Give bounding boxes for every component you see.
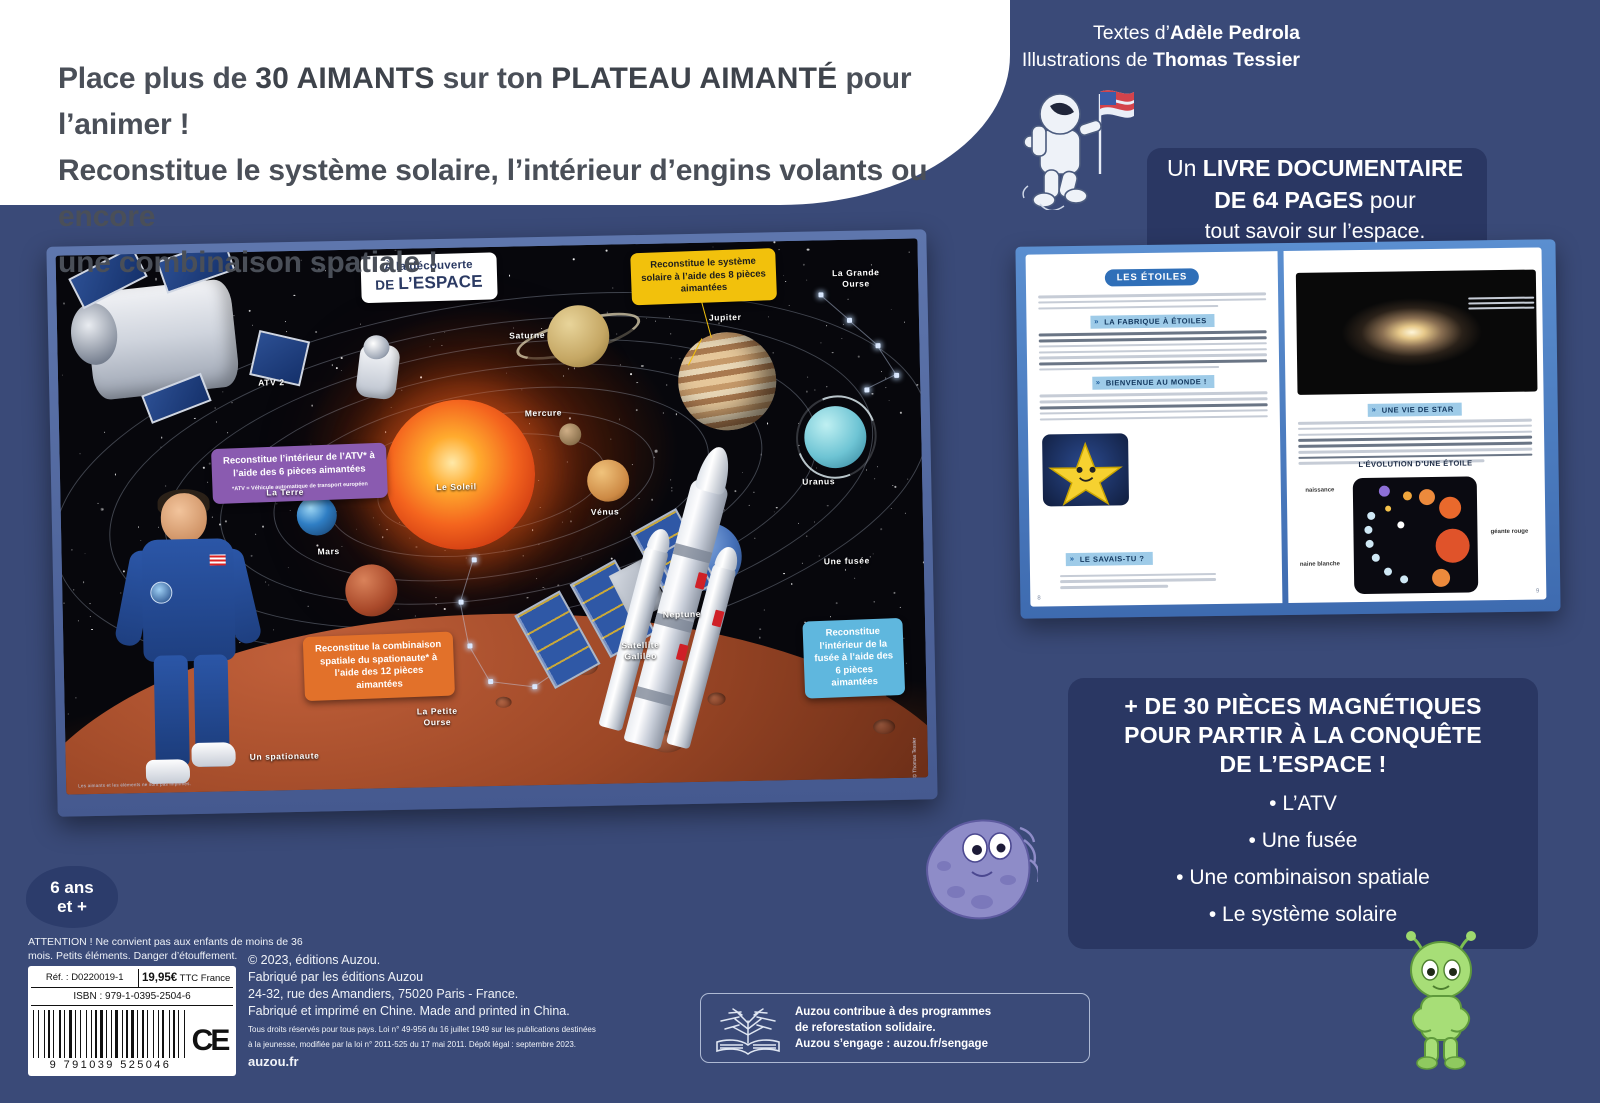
publisher-line-4: Fabriqué et imprimé en Chine. Made and p… bbox=[248, 1003, 668, 1020]
text-line bbox=[1040, 415, 1268, 421]
star-speck bbox=[286, 331, 287, 332]
star-speck bbox=[248, 310, 250, 312]
list-item: • Le système solaire bbox=[1078, 896, 1528, 933]
barcode-bar bbox=[62, 1010, 63, 1058]
barcode-bars bbox=[33, 1010, 188, 1058]
barcode-bar bbox=[153, 1010, 154, 1058]
barcode-bar bbox=[142, 1010, 144, 1058]
magnet-pieces-panel: + DE 30 PIÈCES MAGNÉTIQUES POUR PARTIR À… bbox=[1068, 678, 1538, 949]
barcode-bar bbox=[35, 1010, 37, 1058]
publisher-website[interactable]: auzou.fr bbox=[248, 1054, 668, 1069]
legal-line-1: Tous droits réservés pour tous pays. Loi… bbox=[248, 1024, 668, 1035]
barcode-bar bbox=[173, 1010, 175, 1058]
barcode-bar bbox=[126, 1010, 128, 1058]
callout-atv-text: Reconstitue l’intérieur de l’ATV* à l’ai… bbox=[223, 450, 375, 479]
crater bbox=[495, 696, 511, 707]
text-line bbox=[1039, 359, 1267, 365]
barcode-bar bbox=[111, 1010, 112, 1058]
headline-l1-b: 30 AIMANTS bbox=[255, 62, 434, 95]
evo-star-dot bbox=[1403, 491, 1412, 500]
page-section-heading: UNE VIE DE STAR bbox=[1368, 403, 1462, 417]
reforestation-line-3: Auzou s’engage : auzou.fr/sengage bbox=[795, 1036, 991, 1052]
evo-star-dot bbox=[1435, 528, 1469, 562]
reforestation-line-1: Auzou contribue à des programmes bbox=[795, 1004, 991, 1020]
label-petite-ourse: La Petite Ourse bbox=[417, 706, 458, 729]
page-section-heading: LE SAVAIS-TU ? bbox=[1066, 552, 1153, 566]
barcode-bar bbox=[178, 1010, 179, 1058]
barcode-bar bbox=[122, 1010, 123, 1058]
barcode-bar bbox=[64, 1010, 65, 1058]
text-line bbox=[1038, 305, 1218, 310]
label-terre: La Terre bbox=[266, 487, 304, 499]
star-speck bbox=[63, 303, 65, 305]
text-line bbox=[1060, 585, 1168, 589]
text-line bbox=[1468, 296, 1534, 300]
star-speck bbox=[830, 616, 832, 618]
label-mercure: Mercure bbox=[525, 408, 562, 420]
barcode-bar bbox=[124, 1010, 125, 1058]
doc-l2-a: pour bbox=[1363, 187, 1415, 213]
barcode-bar bbox=[46, 1010, 47, 1058]
star-speck bbox=[763, 609, 764, 610]
star-speck bbox=[899, 606, 900, 607]
barcode-bar bbox=[82, 1010, 85, 1058]
label-atv2: ATV 2 bbox=[258, 377, 285, 389]
alien-character bbox=[1393, 930, 1489, 1070]
credits-texts: Textes d’Adèle Pedrola bbox=[1022, 20, 1300, 47]
reforestation-badge: Auzou contribue à des programmes de refo… bbox=[700, 993, 1090, 1063]
star-speck bbox=[285, 321, 286, 322]
crater bbox=[708, 692, 726, 705]
text-line bbox=[1060, 578, 1216, 583]
barcode-bar bbox=[180, 1010, 183, 1058]
barcode-bar bbox=[131, 1010, 134, 1058]
label-neptune: Neptune bbox=[663, 609, 701, 621]
text-line bbox=[1298, 442, 1532, 448]
magnet-head-line-3: DE L’ESPACE ! bbox=[1078, 750, 1528, 779]
publisher-info: © 2023, éditions Auzou. Fabriqué par les… bbox=[248, 952, 668, 1069]
evo-star-dot bbox=[1366, 540, 1374, 548]
barcode-bar bbox=[155, 1010, 157, 1058]
barcode-bar bbox=[104, 1010, 105, 1058]
star-speck bbox=[91, 629, 93, 631]
barcode-bar bbox=[149, 1010, 152, 1058]
barcode-bar bbox=[108, 1010, 110, 1058]
star-speck bbox=[68, 714, 69, 715]
flag-patch-icon bbox=[210, 554, 226, 565]
reforestation-text: Auzou contribue à des programmes de refo… bbox=[787, 1004, 991, 1052]
star-speck bbox=[843, 324, 844, 325]
star-speck bbox=[759, 637, 761, 639]
magnet-head-line-2: POUR PARTIR À LA CONQUÊTE bbox=[1078, 721, 1528, 750]
price: 19,95€ TTC France bbox=[139, 969, 233, 987]
star-speck bbox=[293, 295, 295, 297]
page-number-left: 8 bbox=[1037, 595, 1040, 601]
age-badge: 6 ans et + bbox=[26, 866, 118, 928]
doc-line-2: DE 64 PAGES pour bbox=[1142, 184, 1488, 216]
legal-line-2: à la jeunesse, modifiée par la loi n° 20… bbox=[248, 1039, 668, 1050]
star-speck bbox=[79, 453, 80, 454]
label-venus: Vénus bbox=[591, 506, 620, 518]
star-speck bbox=[90, 616, 91, 617]
headline-l1-a: Place plus de bbox=[58, 62, 255, 95]
text-line bbox=[1039, 392, 1267, 398]
book-spread-preview: LES ÉTOILES LA FABRIQUE À ÉTOILES BIENVE… bbox=[1015, 239, 1560, 619]
star-speck bbox=[836, 602, 838, 604]
label-spationaute: Un spationaute bbox=[250, 751, 320, 763]
star-speck bbox=[104, 431, 105, 432]
spaceman-shoe-right bbox=[191, 742, 235, 767]
barcode-bar bbox=[66, 1010, 68, 1058]
barcode-bar bbox=[139, 1010, 141, 1058]
credits-texts-author: Adèle Pedrola bbox=[1170, 22, 1300, 44]
barcode-bar bbox=[95, 1010, 97, 1058]
spaceman-illustration bbox=[126, 492, 262, 795]
evo-star-dot bbox=[1364, 526, 1372, 534]
barcode-bar bbox=[80, 1010, 81, 1058]
star-speck bbox=[845, 569, 847, 571]
text-line bbox=[1039, 342, 1267, 348]
barcode-bar bbox=[73, 1010, 74, 1058]
constellation-line bbox=[820, 294, 849, 320]
label-fusee: Une fusée bbox=[824, 555, 870, 567]
magnetic-board-poster: À la découverte DE L’ESPACE Reconstitue … bbox=[46, 229, 937, 817]
label-uranus: Uranus bbox=[802, 476, 835, 488]
age-badge-line1: 6 ans bbox=[50, 878, 93, 897]
barcode-number: 9 791039 525046 bbox=[33, 1059, 188, 1071]
tree-book-icon bbox=[709, 999, 787, 1057]
text-line bbox=[1038, 298, 1266, 304]
barcode-bar bbox=[169, 1010, 170, 1058]
barcode-row: 9 791039 525046 CE bbox=[31, 1006, 233, 1073]
barcode-bar bbox=[86, 1010, 87, 1058]
text-line bbox=[1298, 430, 1532, 436]
label-soleil: Le Soleil bbox=[436, 481, 477, 493]
evo-star-dot bbox=[1367, 512, 1375, 520]
callout-rocket: Reconstitue l’intérieur de la fusée à l’… bbox=[802, 618, 905, 698]
doc-l1-a: Un bbox=[1167, 155, 1203, 181]
barcode-bar bbox=[119, 1010, 121, 1058]
evo-star-dot bbox=[1419, 489, 1435, 505]
barcode-bar bbox=[53, 1010, 54, 1058]
star-speck bbox=[78, 621, 79, 622]
barcode-bar bbox=[55, 1010, 58, 1058]
star-speck bbox=[75, 698, 76, 699]
text-line bbox=[1298, 447, 1532, 453]
text-line bbox=[1060, 573, 1216, 578]
publisher-line-2: Fabriqué par les éditions Auzou bbox=[248, 969, 668, 986]
isbn-number: ISBN : 979-1-0395-2504-6 bbox=[31, 988, 233, 1006]
barcode-bar bbox=[88, 1010, 90, 1058]
barcode-bar bbox=[40, 1010, 43, 1058]
magnet-panel-heading: + DE 30 PIÈCES MAGNÉTIQUES POUR PARTIR À… bbox=[1078, 692, 1528, 779]
text-line bbox=[1039, 366, 1219, 371]
barcode-bar bbox=[137, 1010, 138, 1058]
star-speck bbox=[360, 323, 361, 324]
text-line bbox=[1468, 306, 1534, 310]
credits-texts-prefix: Textes d’ bbox=[1093, 22, 1170, 44]
barcode-bar bbox=[91, 1010, 92, 1058]
callout-spacesuit: Reconstitue la combinaison spatiale du s… bbox=[303, 632, 455, 702]
isbn-row-ref-price: Réf. : D0220019-1 19,95€ TTC France bbox=[31, 969, 233, 988]
evolution-label-naine-blanche: naine blanche bbox=[1296, 560, 1344, 569]
ce-mark-icon: CE bbox=[188, 1024, 231, 1058]
text-line bbox=[1040, 403, 1268, 409]
barcode-bar bbox=[33, 1010, 34, 1058]
credits-illus-prefix: Illustrations de bbox=[1022, 49, 1153, 71]
barcode-bar bbox=[147, 1010, 148, 1058]
star-speck bbox=[923, 562, 925, 564]
evolution-label-naissance: naissance bbox=[1297, 486, 1343, 495]
age-badge-line2: et + bbox=[57, 897, 87, 916]
evo-star-dot bbox=[1432, 569, 1450, 587]
star-speck bbox=[252, 325, 254, 327]
star-speck bbox=[315, 331, 317, 333]
isbn-barcode-box: Réf. : D0220019-1 19,95€ TTC France ISBN… bbox=[28, 966, 236, 1076]
star-speck bbox=[789, 305, 790, 306]
star-speck bbox=[894, 591, 896, 593]
magnet-pieces-list: • L’ATV • Une fusée • Une combinaison sp… bbox=[1078, 785, 1528, 933]
label-jupiter: Jupiter bbox=[709, 312, 742, 324]
headline-line-3: une combinaison spatiale ! bbox=[58, 240, 958, 286]
magnet-head-line-1: + DE 30 PIÈCES MAGNÉTIQUES bbox=[1078, 692, 1528, 721]
smiling-star-icon bbox=[1042, 433, 1129, 506]
page-heading-les-etoiles: LES ÉTOILES bbox=[1105, 268, 1200, 286]
text-line bbox=[1040, 398, 1268, 404]
star-speck bbox=[890, 508, 891, 509]
headline-line-1: Place plus de 30 AIMANTS sur ton PLATEAU… bbox=[58, 56, 958, 148]
barcode-bar bbox=[59, 1010, 61, 1058]
star-speck bbox=[903, 638, 905, 640]
galaxy-photo bbox=[1296, 270, 1538, 395]
star-speck bbox=[874, 601, 875, 602]
evolution-label-geante-rouge: géante rouge bbox=[1485, 528, 1533, 537]
headline-text: Place plus de 30 AIMANTS sur ton PLATEAU… bbox=[58, 56, 958, 286]
barcode-bar bbox=[77, 1010, 79, 1058]
barcode-bar bbox=[129, 1010, 130, 1058]
star-speck bbox=[612, 288, 613, 289]
star-speck bbox=[873, 553, 874, 554]
star-speck bbox=[860, 566, 861, 567]
evo-star-dot bbox=[1385, 506, 1391, 512]
purple-asteroid-character bbox=[920, 810, 1038, 922]
label-satellite-galileo: Satellite Galileo bbox=[621, 640, 659, 663]
price-value: 19,95€ bbox=[142, 972, 177, 984]
doc-line-3: tout savoir sur l’espace. bbox=[1142, 216, 1488, 248]
barcode-bar bbox=[135, 1010, 136, 1058]
barcode-bar bbox=[100, 1010, 103, 1058]
barcode-bar bbox=[38, 1010, 39, 1058]
headline-l1-c: sur ton bbox=[435, 62, 552, 95]
doc-line-1: Un LIVRE DOCUMENTAIRE bbox=[1142, 152, 1488, 184]
page-section-heading: BIENVENUE AU MONDE ! bbox=[1092, 375, 1215, 390]
barcode-bar bbox=[69, 1010, 72, 1058]
barcode-bar bbox=[160, 1010, 161, 1058]
barcode-bar bbox=[171, 1010, 172, 1058]
barcode-bar bbox=[51, 1010, 52, 1058]
spaceman-leg-left bbox=[154, 655, 190, 768]
star-speck bbox=[63, 602, 65, 604]
text-line bbox=[1039, 330, 1267, 336]
text-line bbox=[1040, 409, 1268, 415]
star-speck bbox=[855, 578, 856, 579]
headline-l1-d: PLATEAU AIMANTÉ bbox=[551, 62, 837, 95]
star-speck bbox=[759, 628, 761, 630]
evo-star-dot bbox=[1372, 554, 1380, 562]
documentary-callout-text: Un LIVRE DOCUMENTAIRE DE 64 PAGES pour t… bbox=[1142, 152, 1488, 248]
spaceman-head bbox=[160, 493, 207, 544]
text-line bbox=[1298, 419, 1532, 425]
poster-frame: À la découverte DE L’ESPACE Reconstitue … bbox=[46, 229, 937, 817]
page-section-heading: LA FABRIQUE À ÉTOILES bbox=[1090, 314, 1215, 329]
headline-line-2: Reconstitue le système solaire, l’intéri… bbox=[58, 148, 958, 240]
reforestation-line-2: de reforestation solidaire. bbox=[795, 1020, 991, 1036]
text-line bbox=[1298, 436, 1532, 442]
evolution-diagram bbox=[1353, 476, 1479, 594]
credits: Textes d’Adèle Pedrola Illustrations de … bbox=[1022, 20, 1300, 74]
publisher-line-3: 24-32, rue des Amandiers, 75020 Paris - … bbox=[248, 986, 668, 1003]
price-suffix: TTC France bbox=[177, 973, 230, 984]
rocket-nose-cone bbox=[694, 444, 735, 496]
barcode-bar bbox=[184, 1010, 185, 1058]
product-reference: Réf. : D0220019-1 bbox=[31, 969, 139, 987]
star-speck bbox=[62, 375, 63, 376]
text-line bbox=[1039, 336, 1267, 342]
doc-l1-b: LIVRE DOCUMENTAIRE bbox=[1203, 155, 1463, 181]
poster-scene: À la découverte DE L’ESPACE Reconstitue … bbox=[56, 238, 929, 794]
book-page-right: UNE VIE DE STAR L’ÉVOLUTION D’UNE ÉTOILE bbox=[1284, 247, 1547, 603]
barcode-bar bbox=[98, 1010, 99, 1058]
text-line bbox=[1039, 354, 1267, 360]
crater bbox=[873, 719, 895, 734]
text-line bbox=[1038, 292, 1266, 298]
star-speck bbox=[881, 529, 883, 531]
credits-illus-author: Thomas Tessier bbox=[1153, 49, 1300, 71]
star-speck bbox=[905, 513, 906, 514]
flag-icon bbox=[1100, 90, 1134, 174]
list-item: • Une fusée bbox=[1078, 822, 1528, 859]
list-item: • L’ATV bbox=[1078, 785, 1528, 822]
barcode-bar bbox=[75, 1010, 76, 1058]
label-saturne: Saturne bbox=[509, 330, 545, 342]
evo-star-dot bbox=[1439, 497, 1461, 519]
barcode-bar bbox=[165, 1010, 168, 1058]
star-speck bbox=[848, 298, 849, 299]
star-speck bbox=[791, 583, 793, 585]
text-line bbox=[1468, 301, 1534, 305]
poster-illustrator-credit: © Thomas Tessier bbox=[911, 738, 918, 778]
barcode-bar bbox=[113, 1010, 114, 1058]
astronaut-with-flag-illustration bbox=[1014, 70, 1134, 210]
barcode-bar bbox=[162, 1010, 164, 1058]
text-line bbox=[1039, 348, 1267, 354]
list-item: • Une combinaison spatiale bbox=[1078, 859, 1528, 896]
star-speck bbox=[906, 663, 907, 664]
label-mars: Mars bbox=[317, 546, 339, 557]
barcode-bar bbox=[158, 1010, 159, 1058]
star-speck bbox=[904, 322, 905, 323]
text-line bbox=[1298, 424, 1532, 430]
publisher-line-1: © 2023, éditions Auzou. bbox=[248, 952, 668, 969]
barcode-bar bbox=[145, 1010, 146, 1058]
evo-star-dot bbox=[1379, 486, 1390, 497]
book-page-left: LES ÉTOILES LA FABRIQUE À ÉTOILES BIENVE… bbox=[1026, 251, 1283, 606]
star-speck bbox=[891, 309, 893, 311]
alien-body bbox=[1421, 996, 1461, 1040]
barcode-bar bbox=[44, 1010, 45, 1058]
barcode-bar bbox=[106, 1010, 107, 1058]
barcode-bar bbox=[115, 1010, 118, 1058]
barcode-bar bbox=[93, 1010, 94, 1058]
evo-star-dot bbox=[1384, 568, 1392, 576]
barcode-bar bbox=[176, 1010, 177, 1058]
evo-star-dot bbox=[1397, 521, 1404, 528]
star-character-illustration bbox=[1042, 433, 1129, 506]
evo-star-dot bbox=[1400, 575, 1408, 583]
page-number-right: 9 bbox=[1536, 589, 1539, 595]
barcode-bar bbox=[48, 1010, 50, 1058]
doc-l2-b: DE 64 PAGES bbox=[1214, 187, 1363, 213]
